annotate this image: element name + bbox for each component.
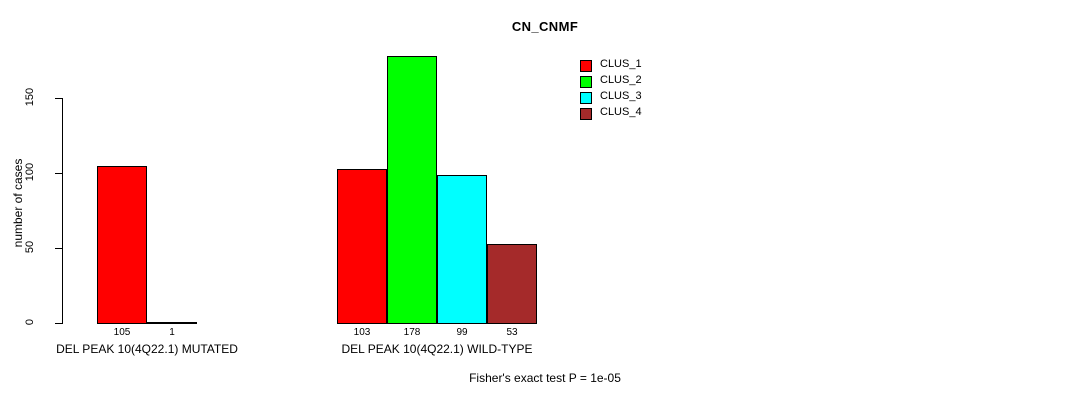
bar <box>337 169 387 325</box>
legend-item-label: CLUS_1 <box>600 58 642 70</box>
legend-item[interactable]: CLUS_3 <box>580 90 710 106</box>
chart-canvas: CN_CNMF number of cases 050100150 1051DE… <box>0 0 1090 400</box>
legend-item-label: CLUS_2 <box>600 74 642 86</box>
legend-item[interactable]: CLUS_1 <box>580 58 710 74</box>
plot-area: 1051DEL PEAK 10(4Q22.1) MUTATED103178995… <box>0 0 1090 400</box>
legend-swatch-icon <box>580 108 592 120</box>
legend-item-label: CLUS_3 <box>600 90 642 102</box>
legend: CLUS_1CLUS_2CLUS_3CLUS_4 <box>580 58 710 122</box>
bar-value-label: 178 <box>387 327 437 338</box>
statistical-test-annotation: Fisher's exact test P = 1e-05 <box>0 371 1090 385</box>
bar <box>437 175 487 325</box>
x-axis-group-label: DEL PEAK 10(4Q22.1) MUTATED <box>0 342 297 356</box>
legend-item[interactable]: CLUS_2 <box>580 74 710 90</box>
bar-value-label: 105 <box>97 327 147 338</box>
bar <box>487 244 537 325</box>
group-baseline <box>97 323 197 324</box>
bar-value-label: 1 <box>147 327 197 338</box>
legend-item[interactable]: CLUS_4 <box>580 106 710 122</box>
bar <box>387 56 437 324</box>
bar-value-label: 53 <box>487 327 537 338</box>
group-baseline <box>337 323 537 324</box>
x-axis-group-label: DEL PEAK 10(4Q22.1) WILD-TYPE <box>287 342 587 356</box>
bar <box>97 166 147 325</box>
legend-swatch-icon <box>580 92 592 104</box>
bar-value-label: 99 <box>437 327 487 338</box>
legend-swatch-icon <box>580 60 592 72</box>
legend-item-label: CLUS_4 <box>600 106 642 118</box>
bar-value-label: 103 <box>337 327 387 338</box>
legend-swatch-icon <box>580 76 592 88</box>
